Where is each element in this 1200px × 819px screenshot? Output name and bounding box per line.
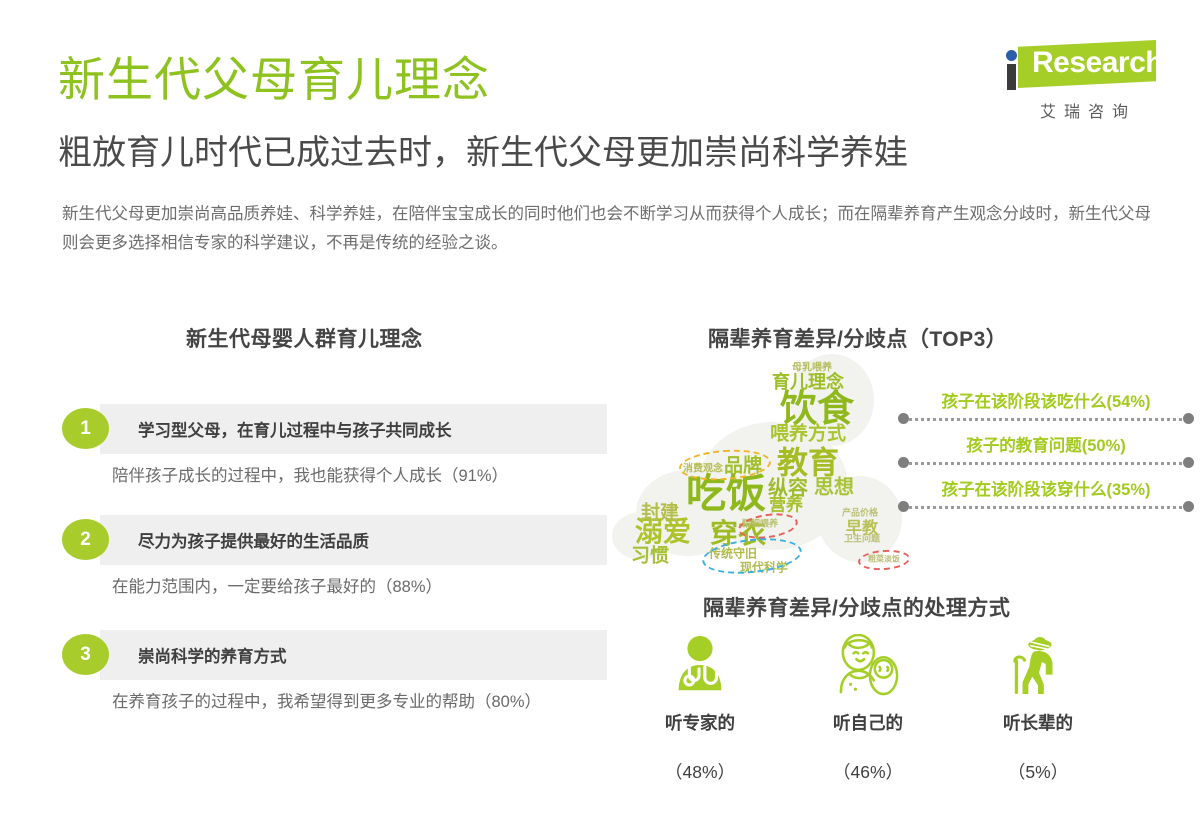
concept-title: 尽力为孩子提供最好的生活品质 [100, 528, 369, 552]
concept-number-badge: 3 [62, 634, 109, 675]
list-item: 孩子在该阶段该穿什么(35%) [898, 476, 1194, 514]
list-item: 孩子在该阶段该吃什么(54%) [898, 388, 1194, 426]
bottom-section-heading: 隔辈养育差异/分歧点的处理方式 [703, 592, 1010, 622]
concept-title-bar: 学习型父母，在育儿过程中与孩子共同成长 [100, 404, 607, 454]
right-section-heading: 隔辈养育差异/分歧点（TOP3） [708, 323, 1007, 353]
list-item: 听长辈的 （5%） [963, 630, 1113, 784]
dotted-connector [904, 462, 1188, 465]
word-cloud-term: 产品价格 [842, 506, 878, 519]
concept-number-badge: 2 [62, 519, 109, 560]
page-title: 新生代父母育儿理念 [58, 56, 490, 103]
elderly-icon [963, 630, 1113, 696]
doctor-icon [625, 630, 775, 696]
concept-title: 学习型父母，在育儿过程中与孩子共同成长 [100, 417, 452, 441]
logo-chinese-name: 艾瑞咨询 [1022, 98, 1154, 122]
persona-percent: （48%） [625, 759, 775, 784]
concept-title-bar: 崇尚科学的养育方式 [100, 630, 607, 680]
word-cloud-term: 母乳喂养 [792, 359, 832, 374]
list-item: 孩子的教育问题(50%) [898, 432, 1194, 470]
word-cloud-term: 营养 [769, 491, 803, 516]
persona-name: 听自己的 [793, 710, 943, 735]
page-subtitle: 粗放育儿时代已成过去时，新生代父母更加崇尚科学养娃 [58, 134, 908, 173]
persona-name: 听长辈的 [963, 710, 1113, 735]
left-section-heading: 新生代母婴人群育儿理念 [186, 323, 423, 353]
logo-i-stem-icon [1007, 64, 1016, 90]
infographic-page: 新生代父母育儿理念 粗放育儿时代已成过去时，新生代父母更加崇尚科学养娃 新生代父… [0, 0, 1200, 819]
connector-dot-right [1183, 457, 1194, 468]
mother-child-icon [793, 630, 943, 696]
connector-dot-left [898, 457, 909, 468]
concept-detail: 陪伴孩子成长的过程中，我也能获得个人成长（91%） [112, 462, 508, 486]
connector-dot-right [1183, 501, 1194, 512]
list-item: 听自己的 （46%） [793, 630, 943, 784]
word-cloud-term: 思想 [814, 471, 854, 500]
connector-dot-left [898, 413, 909, 424]
word-cloud: 吃饭饮食教育溺爱穿衣喂养方式育儿理念纵容思想封建习惯品牌营养早教母乳喂养消费观念… [612, 360, 904, 582]
concept-detail: 在能力范围内，一定要给孩子最好的（88%） [112, 573, 442, 597]
logo-i-dot-icon [1006, 50, 1017, 61]
concept-detail: 在养育孩子的过程中，我希望得到更多专业的帮助（80%） [112, 688, 541, 712]
word-cloud-term: 封建 [641, 498, 679, 525]
persona-percent: （5%） [963, 759, 1113, 784]
top3-label: 孩子的教育问题(50%) [898, 432, 1194, 456]
iresearch-logo: Research 艾瑞咨询 [996, 40, 1156, 126]
persona-percent: （46%） [793, 759, 943, 784]
word-cloud-term: 喂养方式 [770, 419, 846, 446]
concept-title-bar: 尽力为孩子提供最好的生活品质 [100, 515, 607, 565]
list-item: 听专家的 （48%） [625, 630, 775, 784]
persona-name: 听专家的 [625, 710, 775, 735]
concept-title: 崇尚科学的养育方式 [100, 643, 287, 667]
top3-label: 孩子在该阶段该穿什么(35%) [898, 476, 1194, 500]
logo-wordmark: Research [1032, 46, 1163, 80]
concept-number-badge: 1 [62, 408, 109, 449]
dotted-connector [904, 506, 1188, 509]
connector-dot-left [898, 501, 909, 512]
word-cloud-term: 习惯 [631, 541, 669, 568]
word-cloud-term: 卫生问题 [844, 532, 880, 545]
top3-label: 孩子在该阶段该吃什么(54%) [898, 388, 1194, 412]
lead-paragraph: 新生代父母更加崇尚高品质养娃、科学养娃，在陪伴宝宝成长的同时他们也会不断学习从而… [62, 200, 1152, 258]
connector-dot-right [1183, 413, 1194, 424]
dotted-connector [904, 418, 1188, 421]
